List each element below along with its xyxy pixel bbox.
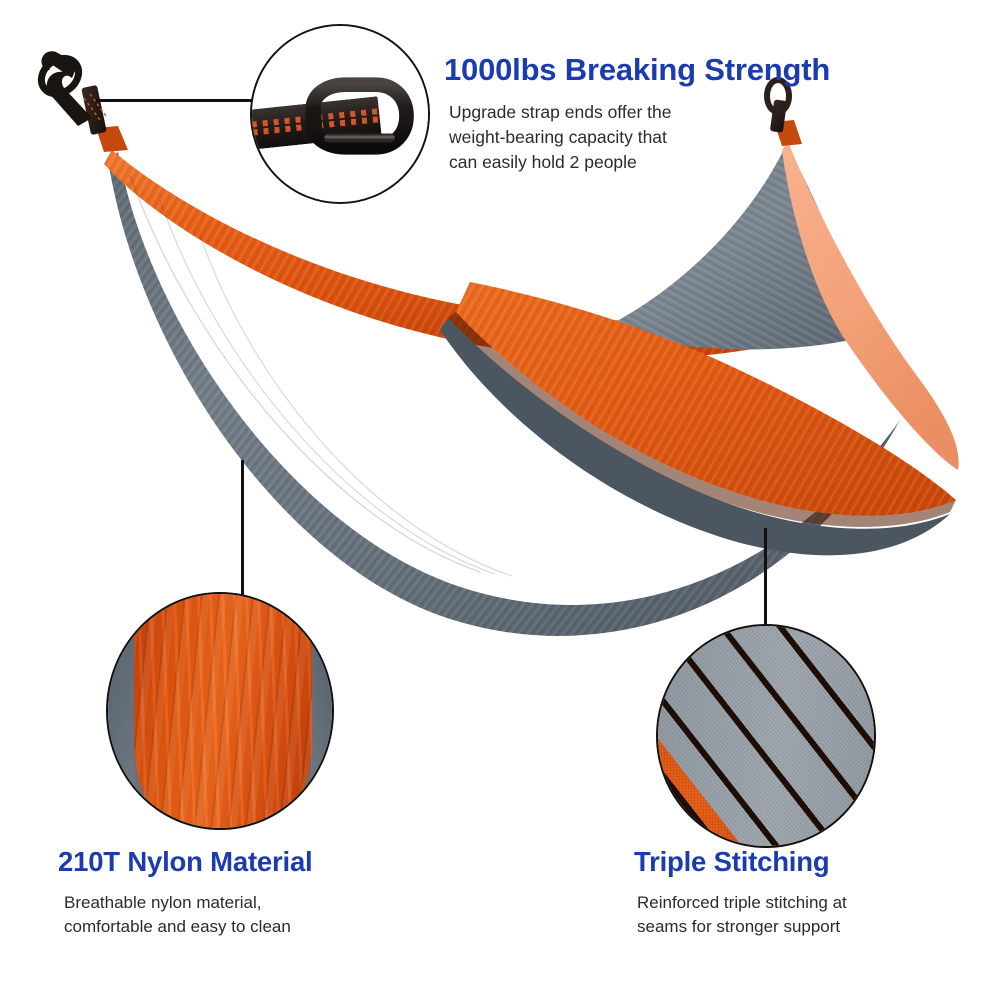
left-carabiner-icon <box>34 51 128 152</box>
hammock-orange-sheer-edge <box>782 142 959 470</box>
feature-title-breaking-strength: 1000lbs Breaking Strength <box>444 54 830 87</box>
callout-triple-stitching-closeup <box>656 624 876 848</box>
right-carabiner-icon <box>767 80 802 146</box>
leader-line-breaking-strength <box>96 99 256 102</box>
stitch-seam-lines <box>656 624 876 848</box>
hammock-gray-far-panel <box>600 145 860 349</box>
feature-body-breaking-strength: Upgrade strap ends offer the weight-bear… <box>449 100 749 175</box>
callout-carabiner-closeup <box>250 24 430 204</box>
hammock-gray-under-edge <box>440 318 950 555</box>
feature-body-triple-stitching: Reinforced triple stitching at seams for… <box>637 891 937 939</box>
hammock-orange-fold-panel <box>448 282 956 527</box>
callout-nylon-fabric-closeup <box>106 592 334 830</box>
hammock-seam-lines <box>130 175 512 576</box>
carabiner-clip-icon <box>252 26 428 202</box>
feature-title-nylon-material: 210T Nylon Material <box>58 848 312 877</box>
nylon-orange-fabric <box>134 592 312 830</box>
hammock-orange-top-band <box>104 150 806 359</box>
hammock-gray-body <box>108 152 900 636</box>
feature-body-nylon-material: Breathable nylon material, comfortable a… <box>64 891 384 939</box>
feature-title-triple-stitching: Triple Stitching <box>634 848 829 877</box>
leader-line-triple-stitching <box>764 528 767 630</box>
leader-line-nylon-material <box>241 460 244 598</box>
infographic-canvas: 1000lbs Breaking Strength Upgrade strap … <box>0 0 1000 1000</box>
